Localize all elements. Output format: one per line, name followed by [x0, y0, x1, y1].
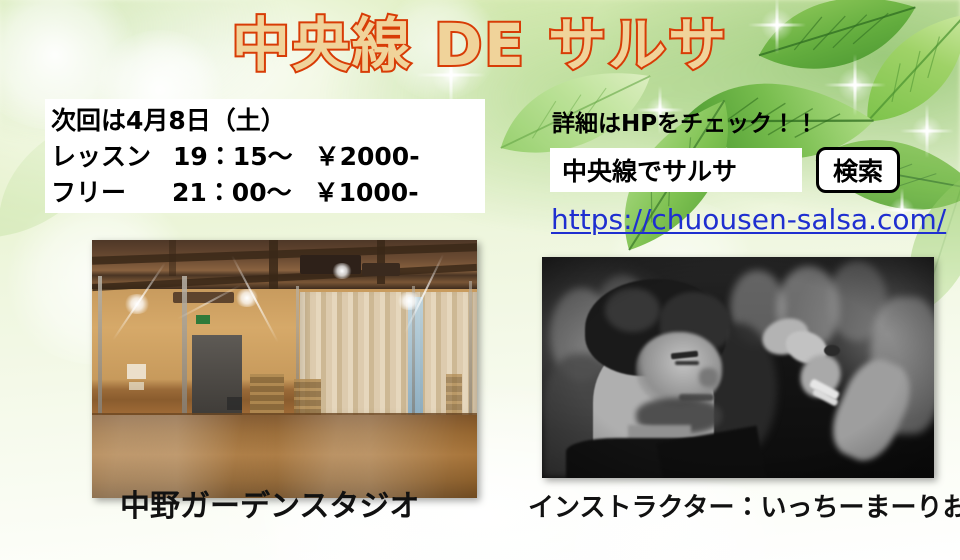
- instructor-photo: [542, 257, 934, 478]
- search-row: 中央線でサルサ 検索: [550, 147, 900, 193]
- free-label: フリー: [51, 178, 126, 207]
- schedule-lesson-row: レッスン19：15〜￥2000-: [51, 139, 485, 175]
- schedule-free-row: フリー21：00〜￥1000-: [51, 175, 485, 211]
- salsa-event-flyer: 中央線 DE サルサ 次回は4月8日（土） レッスン19：15〜￥2000- フ…: [0, 0, 960, 560]
- lesson-price: ￥2000-: [315, 142, 420, 171]
- flyer-title-wrap: 中央線 DE サルサ: [0, 14, 960, 77]
- schedule-next-date: 次回は4月8日（土）: [51, 103, 485, 139]
- studio-photo: [92, 240, 477, 498]
- instructor-caption: インストラクター：いっちーまーりお: [528, 487, 960, 524]
- hp-headline: 詳細はHPをチェック！！: [552, 104, 818, 138]
- lesson-label: レッスン: [51, 142, 151, 171]
- free-time: 21：00〜: [172, 178, 292, 207]
- free-price: ￥1000-: [314, 178, 419, 207]
- studio-caption: 中野ガーデンスタジオ: [120, 481, 419, 525]
- flyer-title: 中央線 DE サルサ: [232, 14, 728, 77]
- search-button-label: 検索: [833, 152, 883, 188]
- search-keyword: 中央線でサルサ: [562, 152, 737, 188]
- search-input[interactable]: 中央線でサルサ: [550, 148, 802, 192]
- search-button[interactable]: 検索: [816, 147, 900, 193]
- schedule-info-box: 次回は4月8日（土） レッスン19：15〜￥2000- フリー21：00〜￥10…: [45, 99, 485, 213]
- lesson-time: 19：15〜: [173, 142, 293, 171]
- website-link[interactable]: https://chuousen-salsa.com/: [551, 203, 946, 236]
